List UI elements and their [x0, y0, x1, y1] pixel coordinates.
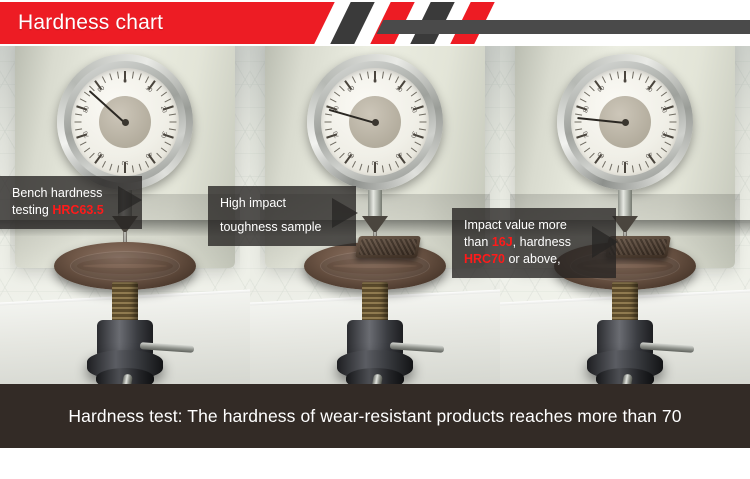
callout-line-2: testing HRC63.5 [12, 202, 130, 219]
gauge-tick-minor [583, 92, 589, 97]
gauge-face: 0102030405060708090 [321, 68, 429, 176]
gauge-tick-minor [164, 98, 171, 102]
callout-line-1: Impact value more [464, 217, 604, 234]
header-stripe-dark-2 [326, 2, 377, 44]
gauge-tick-minor [656, 153, 662, 159]
gauge-tick-minor [156, 153, 162, 159]
gauge-scale-number: 0 [121, 79, 129, 85]
gauge-tick-minor [367, 72, 369, 79]
callout-value-hrc: HRC70 [464, 252, 505, 266]
gauge-tick-minor [117, 165, 119, 172]
gauge-tick-minor [359, 73, 362, 80]
gauge-tick-minor [339, 153, 345, 159]
gauge-tick-minor [131, 72, 133, 79]
callout-pointer-3 [592, 226, 618, 258]
gauge-tick-minor [660, 92, 666, 97]
gauge-scale-number: 50 [371, 159, 379, 165]
gauge-tick-minor [101, 161, 105, 168]
gauge-tick-minor [164, 142, 171, 146]
gauge-scale-number: 70 [333, 130, 341, 139]
gauge-tick-minor [406, 153, 412, 159]
gauge-tick-minor [388, 164, 391, 171]
callout-line-2: than 16J, hardness [464, 234, 604, 251]
callout-pointer-1 [118, 186, 142, 214]
gauge-tick-minor [325, 114, 332, 116]
gauge-tick-minor [339, 86, 345, 92]
callout-line-2: toughness sample [220, 219, 344, 236]
gauge-tick-minor [168, 114, 175, 116]
gauge-tick-minor [617, 165, 619, 172]
callout-line-1: Bench hardness [12, 185, 130, 202]
gauge-tick-minor [668, 114, 675, 116]
gauge-tick-minor [579, 98, 586, 102]
callout-text-prefix: testing [12, 203, 52, 217]
caption-text: Hardness test: The hardness of wear-resi… [0, 384, 750, 448]
callout-value-hrc: HRC63.5 [52, 203, 103, 217]
gauge-face: 0102030405060708090 [71, 68, 179, 176]
gauge-tick-minor [381, 72, 383, 79]
gauge-hub [372, 119, 379, 126]
gauge-tick-minor [617, 72, 619, 79]
bottom-white-margin [0, 448, 750, 479]
gauge-tick-minor [631, 72, 633, 79]
header-dark-bar [392, 20, 750, 34]
gauge-tick-minor [645, 76, 649, 83]
gauge-tick-minor [575, 128, 582, 130]
callout-text-prefix: than [464, 235, 492, 249]
gauge-tick-minor [168, 128, 175, 130]
gauge-tick-minor [109, 164, 112, 171]
gauge-tick-minor [589, 153, 595, 159]
gauge-tick-minor [388, 73, 391, 80]
gauge-scale-number: 20 [659, 105, 667, 114]
gauge-scale-number: 20 [159, 105, 167, 114]
gauge-scale-number: 70 [83, 130, 91, 139]
gauge-scale-number: 50 [121, 159, 129, 165]
gauge-tick-minor [419, 122, 426, 123]
gauge-tick-minor [75, 114, 82, 116]
gauge-tick-minor [664, 98, 671, 102]
gauge-tick-minor [406, 86, 412, 92]
hardness-gauge-dial: 0102030405060708090 [557, 54, 693, 190]
gauge-tick-minor [79, 98, 86, 102]
gauge-scale-number: 80 [583, 105, 591, 114]
impact-test-specimen [355, 236, 421, 258]
hardness-gauge-dial: 0102030405060708090 [57, 54, 193, 190]
gauge-tick-minor [660, 147, 666, 152]
gauge-tick-minor [656, 86, 662, 92]
gauge-tick-minor [638, 73, 641, 80]
gauge-tick-minor [638, 164, 641, 171]
gauge-tick-minor [410, 147, 416, 152]
gauge-scale-number: 30 [659, 130, 667, 139]
gauge-tick-minor [75, 128, 82, 130]
gauge-tick-minor [414, 98, 421, 102]
gauge-tick-minor [89, 153, 95, 159]
gauge-tick-minor [668, 128, 675, 130]
gauge-scale-number: 50 [621, 159, 629, 165]
callout-text-suffix: or above, [505, 252, 561, 266]
gauge-tick-minor [414, 142, 421, 146]
gauge-scale-number: 30 [159, 130, 167, 139]
callout-line-1: High impact [220, 195, 344, 212]
gauge-hub [622, 119, 629, 126]
gauge-tick-minor [601, 76, 605, 83]
gauge-tick-minor [351, 76, 355, 83]
gauge-tick-minor [418, 128, 425, 130]
gauge-tick-minor [160, 147, 166, 152]
gauge-tick-minor [138, 73, 141, 80]
gauge-hub [122, 119, 129, 126]
page-title: Hardness chart [18, 8, 163, 38]
gauge-tick-minor [79, 142, 86, 146]
callout-value-impact: 16J [492, 235, 513, 249]
gauge-tick-minor [324, 122, 331, 123]
gauge-tick-minor [169, 122, 176, 123]
gauge-scale-number: 0 [371, 79, 379, 85]
gauge-tick-minor [410, 92, 416, 97]
header-banner: Hardness chart [0, 0, 750, 46]
gauge-tick-minor [664, 142, 671, 146]
gauge-tick-minor [351, 161, 355, 168]
gauge-tick-minor [583, 147, 589, 152]
gauge-tick-minor [579, 142, 586, 146]
gauge-scale-number: 80 [83, 105, 91, 114]
gauge-tick-minor [101, 76, 105, 83]
gauge-tick-minor [329, 142, 336, 146]
gauge-tick-minor [156, 86, 162, 92]
gauge-tick-minor [138, 164, 141, 171]
gauge-tick-minor [74, 122, 81, 123]
gauge-tick-minor [669, 122, 676, 123]
gauge-tick-minor [381, 165, 383, 172]
gauge-tick-minor [359, 164, 362, 171]
gauge-face: 0102030405060708090 [571, 68, 679, 176]
gauge-tick-minor [609, 164, 612, 171]
gauge-tick-minor [325, 128, 332, 130]
gauge-tick-minor [609, 73, 612, 80]
gauge-tick-minor [145, 161, 149, 168]
gauge-tick-minor [575, 114, 582, 116]
gauge-tick-minor [631, 165, 633, 172]
gauge-tick-minor [160, 92, 166, 97]
gauge-tick-minor [83, 147, 89, 152]
gauge-tick-minor [395, 76, 399, 83]
hardness-chart-image: 0102030405060708090 [0, 0, 750, 479]
gauge-tick-minor [601, 161, 605, 168]
callout-line-3: HRC70 or above, [464, 251, 604, 268]
gauge-tick-minor [574, 122, 581, 123]
callout-text-suffix: , hardness [513, 235, 571, 249]
gauge-tick-minor [131, 165, 133, 172]
gauge-tick-minor [117, 72, 119, 79]
gauge-scale-number: 30 [409, 130, 417, 139]
callout-pointer-2 [332, 198, 358, 228]
gauge-tick-minor [367, 165, 369, 172]
gauge-tick-minor [418, 114, 425, 116]
gauge-tick-minor [109, 73, 112, 80]
gauge-tick-minor [329, 98, 336, 102]
hardness-gauge-dial: 0102030405060708090 [307, 54, 443, 190]
gauge-scale-number: 70 [583, 130, 591, 139]
gauge-scale-number: 0 [621, 79, 629, 85]
gauge-scale-number: 20 [409, 105, 417, 114]
gauge-tick-minor [145, 76, 149, 83]
gauge-tick-minor [589, 86, 595, 92]
gauge-tick-minor [645, 161, 649, 168]
gauge-tick-minor [395, 161, 399, 168]
gauge-tick-minor [333, 92, 339, 97]
gauge-tick-minor [333, 147, 339, 152]
